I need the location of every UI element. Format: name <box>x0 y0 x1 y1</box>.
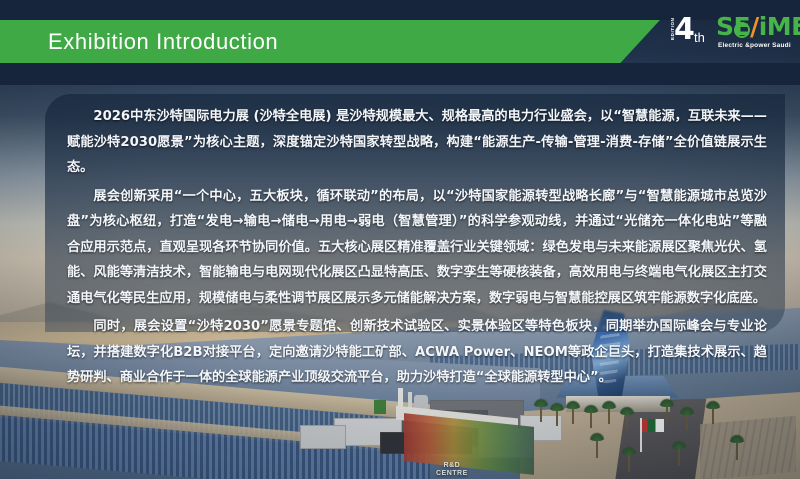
logo-tagline: Electric &power Saudi <box>718 42 791 49</box>
page-title: Exhibition Introduction <box>48 29 278 55</box>
header-bottom-band <box>0 63 800 85</box>
introduction-panel: 2026中东沙特国际电力展 (沙特全电展) 是沙特规模最大、规格最高的电力行业盛… <box>45 94 785 332</box>
paragraph: 2026中东沙特国际电力展 (沙特全电展) 是沙特规模最大、规格最高的电力行业盛… <box>67 104 767 181</box>
logo-brand-part-2: iME <box>759 12 800 41</box>
paragraph: 同时，展会设置“沙特2030”愿景专题馆、创新技术试验区、实景体验区等特色板块，… <box>67 314 767 391</box>
paragraph: 展会创新采用“一个中心，五大板块，循环联动”的布局，以“沙特国家能源转型战略长廊… <box>67 184 767 312</box>
lightning-bolt-icon: / <box>750 12 759 41</box>
slide-canvas: R&D CENTRE Exhibition Introduction EDITI… <box>0 0 800 479</box>
logo-ordinal-number: 4 <box>674 15 695 45</box>
event-logo[interactable]: EDITION 4 th SE/iME Electric &power Saud… <box>668 12 798 64</box>
introduction-text: 2026中东沙特国际电力展 (沙特全电展) 是沙特规模最大、规格最高的电力行业盛… <box>67 104 767 394</box>
gear-icon <box>734 22 750 38</box>
logo-ordinal-suffix: th <box>694 30 705 45</box>
logo-brand-wordmark: SE/iME <box>716 14 800 40</box>
